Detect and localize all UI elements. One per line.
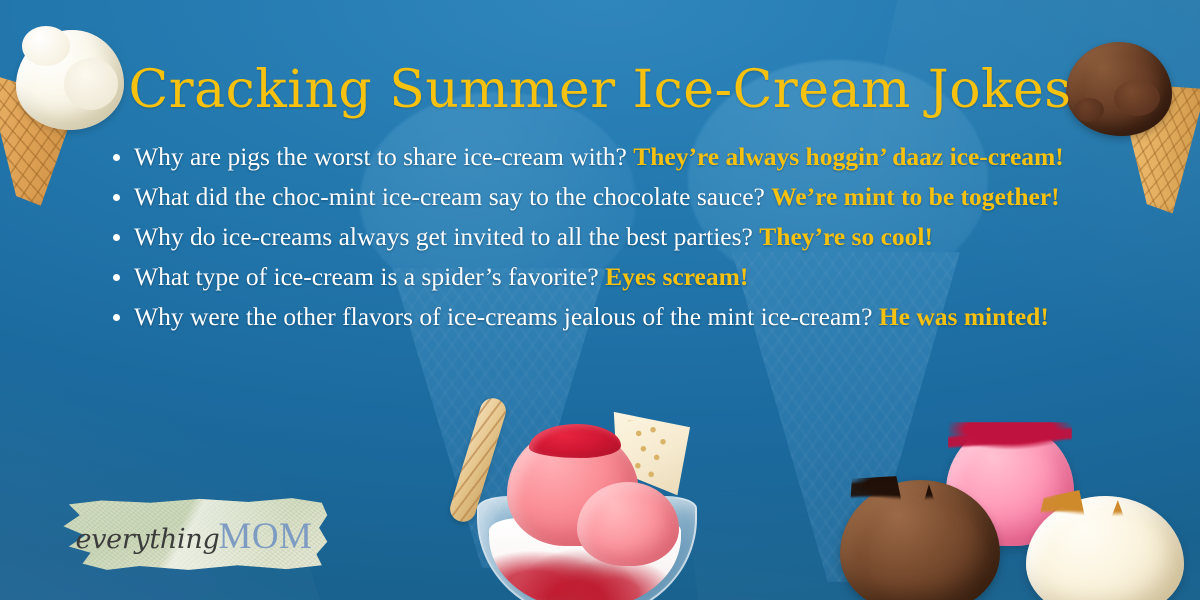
joke-answer: They’re always hoggin’ daaz ice-cream! <box>633 142 1064 171</box>
list-item: What did the choc-mint ice-cream say to … <box>106 178 1116 215</box>
joke-question: Why are pigs the worst to share ice-crea… <box>134 142 633 171</box>
bullet-icon <box>113 194 120 201</box>
joke-answer: They’re so cool! <box>759 222 933 251</box>
logo-word-mom: MOM <box>218 516 312 557</box>
logo-word-everything: everything <box>76 524 220 555</box>
logo-text: everythingMOM <box>58 515 330 558</box>
joke-list: Why are pigs the worst to share ice-crea… <box>106 138 1116 338</box>
bullet-icon <box>113 314 120 321</box>
page-title: Cracking Summer Ice-Cream Jokes <box>0 60 1200 120</box>
everythingmom-logo[interactable]: everythingMOM <box>58 495 330 573</box>
bullet-icon <box>113 154 120 161</box>
ice-cream-scoops-trio-image <box>836 420 1200 600</box>
joke-answer: He was minted! <box>879 302 1049 331</box>
bullet-icon <box>113 274 120 281</box>
strawberry-sundae-image <box>455 400 755 600</box>
strawberry-syrup-shape <box>529 424 621 458</box>
joke-answer: We’re mint to be together! <box>771 182 1059 211</box>
list-item: Why are pigs the worst to share ice-crea… <box>106 138 1116 175</box>
bullet-icon <box>113 234 120 241</box>
strawberry-scoop-front-shape <box>577 482 679 566</box>
joke-question: What did the choc-mint ice-cream say to … <box>134 182 771 211</box>
joke-question: Why were the other flavors of ice-creams… <box>134 302 879 331</box>
list-item: Why do ice-creams always get invited to … <box>106 218 1116 255</box>
list-item: Why were the other flavors of ice-creams… <box>106 298 1116 335</box>
list-item: What type of ice-cream is a spider’s fav… <box>106 258 1116 295</box>
joke-question: What type of ice-cream is a spider’s fav… <box>134 262 605 291</box>
joke-answer: Eyes scream! <box>605 262 748 291</box>
joke-question: Why do ice-creams always get invited to … <box>134 222 759 251</box>
ice-cream-jokes-poster: Cracking Summer Ice-Cream Jokes Why are … <box>0 0 1200 600</box>
